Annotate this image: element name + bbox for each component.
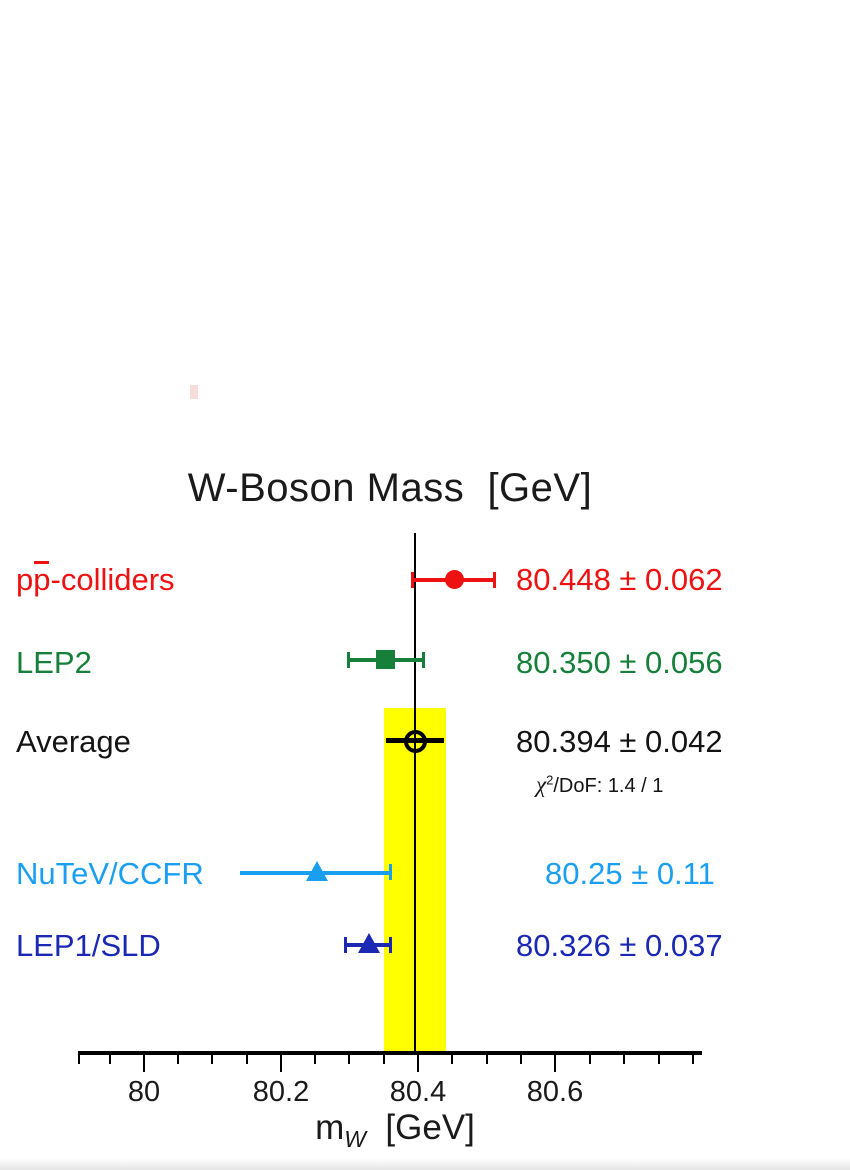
- x-axis-minor-tick: [177, 1055, 179, 1064]
- x-axis-minor-tick: [589, 1055, 591, 1064]
- series-value-nutev-ccfr: 80.25 ± 0.11: [545, 858, 715, 889]
- label-text: LEP1/SLD: [16, 928, 161, 963]
- series-value-average: 80.394 ± 0.042: [516, 726, 723, 757]
- x-axis-tick-label-80.4: 80.4: [378, 1076, 458, 1109]
- label-pbar: p: [33, 564, 50, 595]
- axis-title-unit: [GeV]: [366, 1108, 475, 1147]
- x-axis-minor-tick: [692, 1055, 694, 1064]
- series-value-lep2: 80.350 ± 0.056: [516, 647, 723, 678]
- chi-symbol: χ: [536, 772, 546, 797]
- error-cap-right-nutev: [389, 864, 392, 880]
- x-axis-tick-label-80.2: 80.2: [241, 1076, 321, 1109]
- series-label-lep1-sld: LEP1/SLD: [16, 930, 161, 961]
- data-marker-circle-ppbar-colliders: [445, 570, 464, 589]
- x-axis-minor-tick: [623, 1055, 625, 1064]
- x-axis-major-tick-80.2: [280, 1055, 282, 1072]
- x-axis-minor-tick: [211, 1055, 213, 1064]
- x-axis-major-tick-80.4: [417, 1055, 419, 1072]
- x-axis-tick-label-80: 80: [104, 1076, 184, 1109]
- x-axis-minor-tick: [78, 1055, 80, 1064]
- label-p-first: p: [16, 562, 33, 597]
- page-edge-shadow: [0, 1158, 850, 1170]
- data-marker-open-circle-average: [404, 730, 427, 753]
- label-suffix: -colliders: [51, 562, 175, 597]
- x-axis-minor-tick: [383, 1055, 385, 1064]
- error-cap-left-lep2: [347, 652, 350, 668]
- x-axis-line: [78, 1051, 702, 1055]
- x-axis-minor-tick: [348, 1055, 350, 1064]
- data-marker-triangle-lep1-sld: [358, 933, 380, 953]
- x-axis-minor-tick: [109, 1055, 111, 1064]
- x-axis-minor-tick: [486, 1055, 488, 1064]
- x-axis-title: mW [GeV]: [0, 1108, 790, 1153]
- series-label-nutev-ccfr: NuTeV/CCFR: [16, 858, 204, 889]
- x-axis-minor-tick: [658, 1055, 660, 1064]
- data-marker-triangle-nutev-ccfr: [306, 861, 328, 881]
- error-cap-left-ppbar: [411, 572, 414, 588]
- x-axis-minor-tick: [520, 1055, 522, 1064]
- x-axis-major-tick-80: [143, 1055, 145, 1072]
- chart-figure: W-Boson Mass [GeV] pp-colliders 80.448 ±…: [0, 0, 850, 1170]
- x-axis-minor-tick: [314, 1055, 316, 1064]
- x-axis-major-tick-80.6: [554, 1055, 556, 1072]
- axis-title-subscript: W: [344, 1126, 366, 1152]
- error-cap-right-lep2: [422, 652, 425, 668]
- error-cap-left-lep1: [344, 937, 347, 953]
- chi2-rest: /DoF: 1.4 / 1: [553, 775, 663, 797]
- label-text: Average: [16, 724, 131, 759]
- label-text: LEP2: [16, 645, 92, 680]
- error-cap-right-lep1: [389, 937, 392, 953]
- chart-title: W-Boson Mass [GeV]: [0, 466, 780, 511]
- x-axis-minor-tick: [246, 1055, 248, 1064]
- chi2-dof-annotation: χ2/DoF: 1.4 / 1: [536, 772, 663, 798]
- series-label-ppbar-colliders: pp-colliders: [16, 564, 175, 595]
- data-marker-square-lep2: [376, 650, 395, 669]
- scan-artifact: [190, 385, 198, 399]
- series-label-average: Average: [16, 726, 131, 757]
- label-text: NuTeV/CCFR: [16, 856, 204, 891]
- series-value-ppbar-colliders: 80.448 ± 0.062: [516, 564, 723, 595]
- x-axis-minor-tick: [451, 1055, 453, 1064]
- axis-title-m: m: [315, 1108, 344, 1147]
- x-axis-tick-label-80.6: 80.6: [515, 1076, 595, 1109]
- reference-line: [414, 533, 416, 1053]
- error-cap-right-ppbar: [493, 572, 496, 588]
- series-label-lep2: LEP2: [16, 647, 92, 678]
- series-value-lep1-sld: 80.326 ± 0.037: [516, 930, 723, 961]
